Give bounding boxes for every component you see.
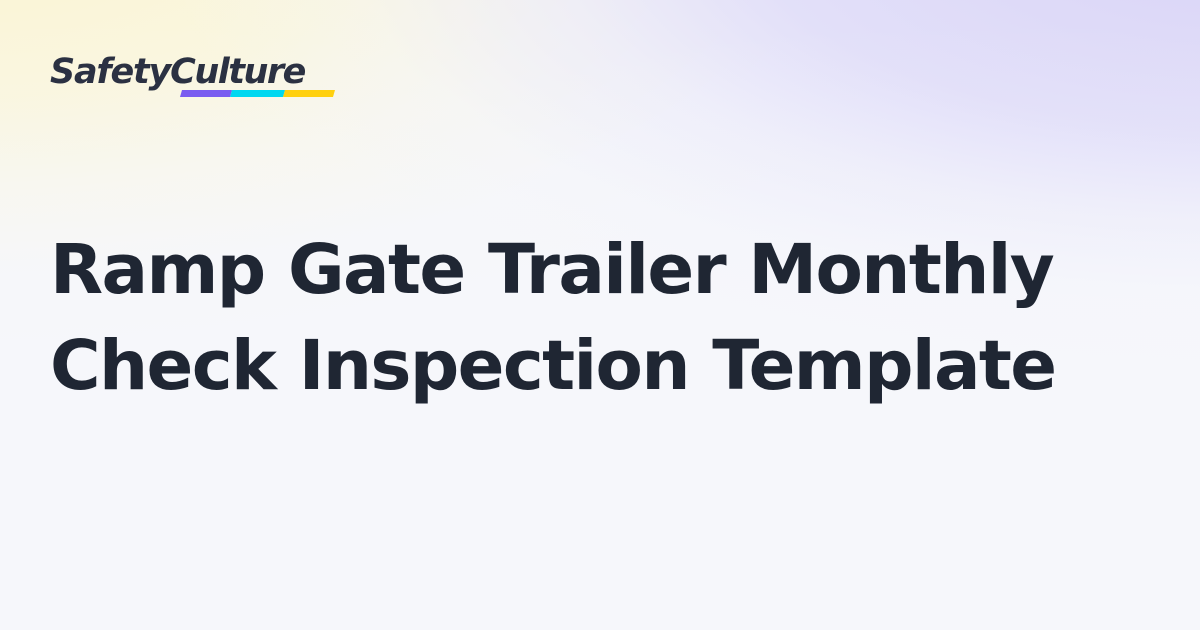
logo-wordmark-culture: Culture (170, 52, 305, 92)
safetyculture-logo: SafetyCulture (50, 50, 340, 106)
logo-underline-segment-purple (180, 90, 232, 97)
share-card: SafetyCulture Ramp Gate Trailer Monthly … (0, 0, 1200, 630)
hero-title-block: Ramp Gate Trailer Monthly Check Inspecti… (50, 222, 1070, 414)
logo-underline-segment-gold (282, 90, 334, 97)
logo-wordmark-safety: Safety (50, 52, 170, 92)
logo-underline-icon (180, 90, 335, 97)
page-title: Ramp Gate Trailer Monthly Check Inspecti… (50, 222, 1070, 414)
logo-wordmark: SafetyCulture (50, 50, 305, 94)
logo-underline-segment-cyan (230, 90, 284, 97)
